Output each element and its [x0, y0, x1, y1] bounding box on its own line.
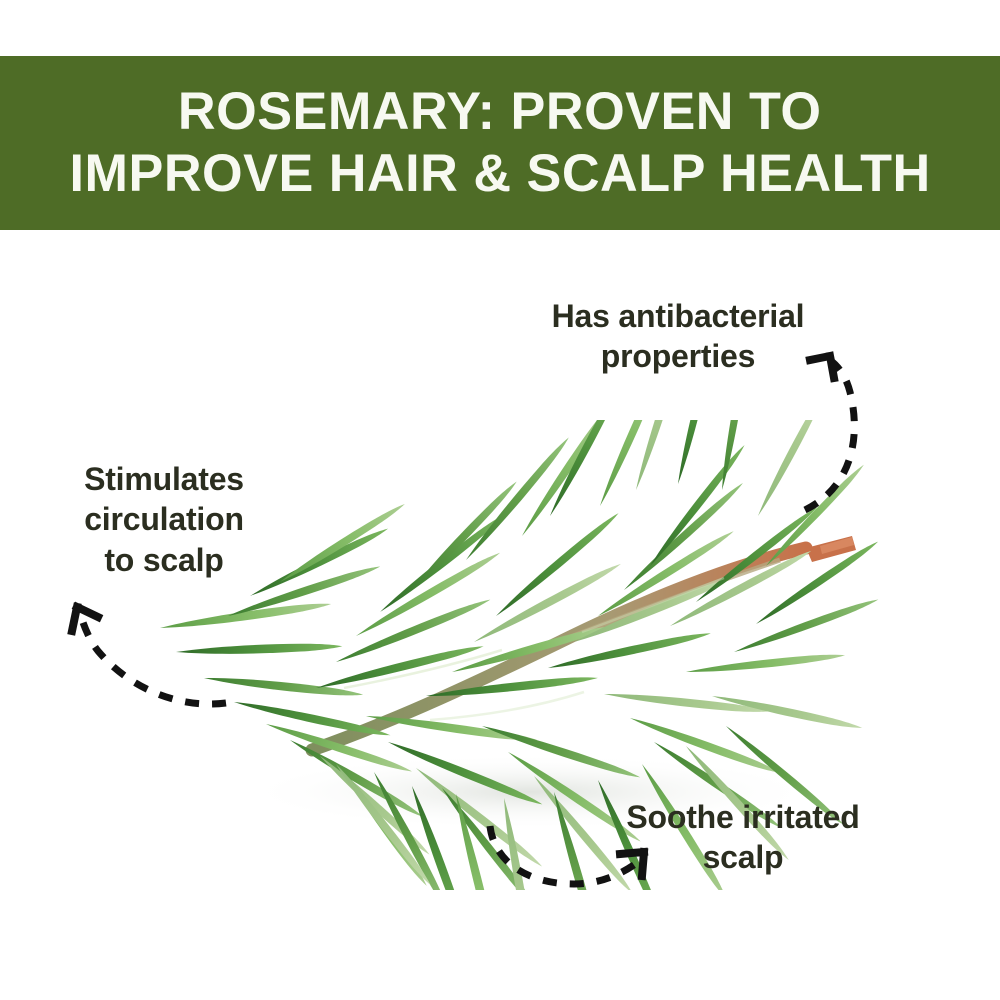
arrow-circulation-icon — [50, 585, 240, 715]
callout-circulation-line-3: to scalp — [38, 540, 290, 580]
arrow-antibacterial-icon — [750, 330, 870, 530]
callout-circulation-line-2: circulation — [38, 499, 290, 539]
header-banner: ROSEMARY: PROVEN TO IMPROVE HAIR & SCALP… — [0, 56, 1000, 230]
infographic-page: ROSEMARY: PROVEN TO IMPROVE HAIR & SCALP… — [0, 0, 1000, 1000]
callout-circulation: Stimulates circulation to scalp — [38, 459, 290, 580]
arrow-soothe-icon — [470, 800, 680, 910]
page-title-line-1: ROSEMARY: PROVEN TO — [178, 81, 822, 143]
callout-circulation-line-1: Stimulates — [38, 459, 290, 499]
page-title-line-2: IMPROVE HAIR & SCALP HEALTH — [69, 143, 930, 205]
